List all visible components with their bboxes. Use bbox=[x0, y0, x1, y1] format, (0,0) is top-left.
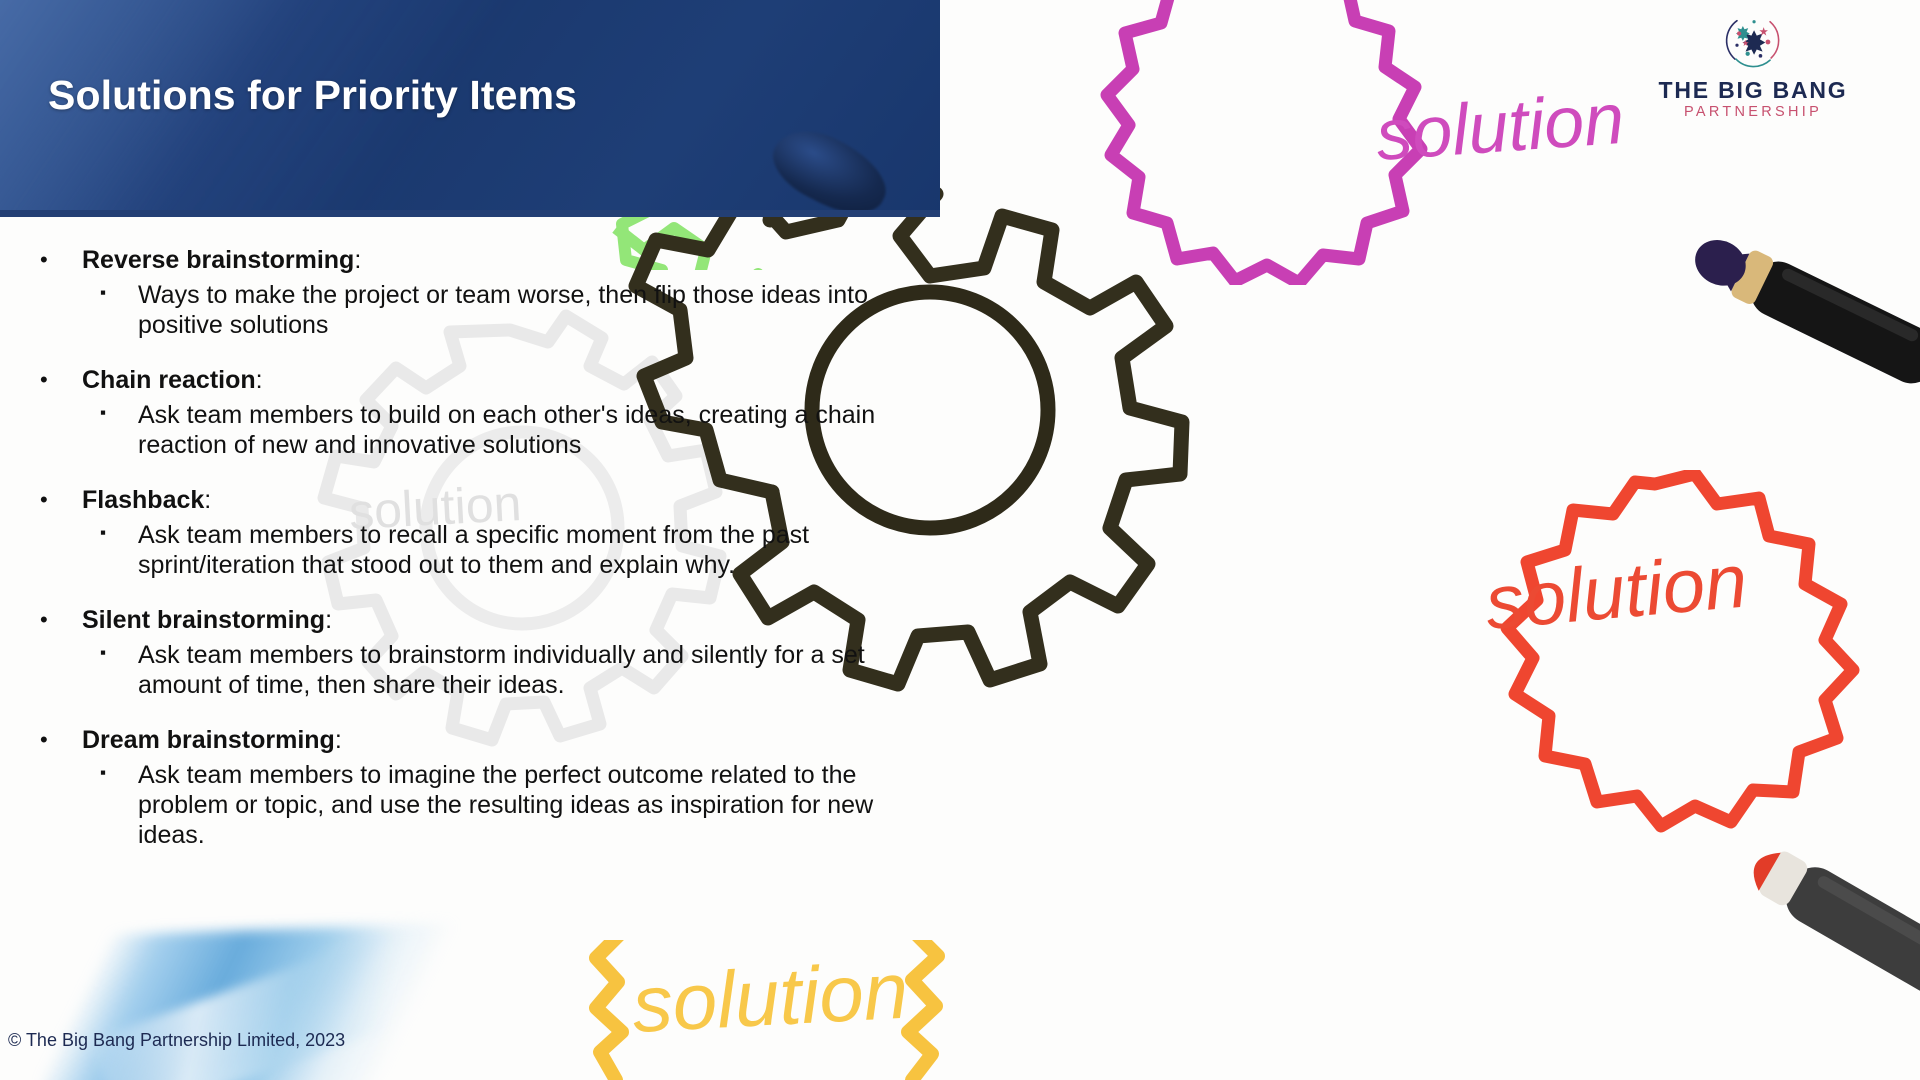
bullet-detail: Ask team members to imagine the perfect … bbox=[138, 760, 878, 850]
brand-logo: THE BIG BANG PARTNERSHIP bbox=[1628, 10, 1878, 122]
bullet-square-icon: ▪ bbox=[34, 760, 138, 786]
svg-text:solution: solution bbox=[1482, 545, 1750, 646]
bullet-colon: : bbox=[354, 246, 361, 274]
bullet-colon: : bbox=[256, 366, 263, 394]
bullet-detail: Ways to make the project or team worse, … bbox=[138, 280, 878, 340]
bullet-level2: ▪ Ask team members to build on each othe… bbox=[34, 400, 914, 460]
bullet-dot-icon: • bbox=[34, 486, 82, 514]
bullet-group: • Silent brainstorming: ▪ Ask team membe… bbox=[34, 606, 914, 700]
bullet-colon: : bbox=[335, 726, 342, 754]
bullet-level2: ▪ Ask team members to imagine the perfec… bbox=[34, 760, 914, 850]
bullet-detail: Ask team members to brainstorm individua… bbox=[138, 640, 878, 700]
gear-magenta-top-right bbox=[1055, 0, 1455, 285]
title-band-rule bbox=[0, 210, 940, 217]
bullet-square-icon: ▪ bbox=[34, 400, 138, 426]
bullet-level1: • Chain reaction: bbox=[34, 366, 914, 395]
copyright-footer: © The Big Bang Partnership Limited, 2023 bbox=[8, 1030, 345, 1051]
bullet-level2: ▪ Ask team members to brainstorm individ… bbox=[34, 640, 914, 700]
bullet-square-icon: ▪ bbox=[34, 520, 138, 546]
bullet-label: Reverse brainstorming bbox=[82, 246, 354, 274]
bullet-colon: : bbox=[204, 486, 211, 514]
bullet-level1: • Dream brainstorming: bbox=[34, 726, 914, 755]
marker-red-bottom-right bbox=[1690, 815, 1920, 1005]
bullet-label: Chain reaction bbox=[82, 366, 256, 394]
bullet-group: • Chain reaction: ▪ Ask team members to … bbox=[34, 366, 914, 460]
svg-text:solution: solution bbox=[630, 946, 910, 1049]
marker-blue-bottom-left bbox=[37, 923, 473, 1080]
bullet-label: Silent brainstorming bbox=[82, 606, 325, 634]
logo-sub-name: PARTNERSHIP bbox=[1628, 104, 1878, 121]
bullet-level1: • Flashback: bbox=[34, 486, 914, 515]
bullet-dot-icon: • bbox=[34, 606, 82, 634]
bullet-square-icon: ▪ bbox=[34, 640, 138, 666]
bullet-dot-icon: • bbox=[34, 246, 82, 274]
bullet-detail: Ask team members to build on each other'… bbox=[138, 400, 878, 460]
slide-root: solution solution solution bbox=[0, 0, 1920, 1080]
gear-yellow-word: solution bbox=[630, 940, 950, 1070]
bullet-level2: ▪ Ask team members to recall a specific … bbox=[34, 520, 914, 580]
bullet-list: • Reverse brainstorming: ▪ Ways to make … bbox=[34, 246, 914, 850]
bullet-label: Dream brainstorming bbox=[82, 726, 335, 754]
bullet-square-icon: ▪ bbox=[34, 280, 138, 306]
bullet-level1: • Silent brainstorming: bbox=[34, 606, 914, 635]
gear-red-bottom-right bbox=[1395, 470, 1915, 910]
svg-text:solution: solution bbox=[1374, 82, 1627, 176]
bullet-group: • Flashback: ▪ Ask team members to recal… bbox=[34, 486, 914, 580]
marker-black-right bbox=[1670, 215, 1920, 395]
logo-brand-name: THE BIG BANG bbox=[1628, 78, 1878, 102]
gear-red-word: solution bbox=[1480, 545, 1860, 665]
bullet-detail: Ask team members to recall a specific mo… bbox=[138, 520, 878, 580]
bullet-label: Flashback bbox=[82, 486, 204, 514]
bullet-level1: • Reverse brainstorming: bbox=[34, 246, 914, 275]
bullet-group: • Reverse brainstorming: ▪ Ways to make … bbox=[34, 246, 914, 340]
gear-yellow-bottom bbox=[560, 940, 980, 1080]
page-title: Solutions for Priority Items bbox=[48, 72, 577, 119]
bullet-colon: : bbox=[325, 606, 332, 634]
marker-blue-bottom-left-highlight bbox=[90, 925, 440, 1080]
starburst-circle-icon bbox=[1693, 10, 1813, 74]
bullet-dot-icon: • bbox=[34, 366, 82, 394]
bullet-level2: ▪ Ways to make the project or team worse… bbox=[34, 280, 914, 340]
bullet-group: • Dream brainstorming: ▪ Ask team member… bbox=[34, 726, 914, 850]
bullet-dot-icon: • bbox=[34, 726, 82, 754]
